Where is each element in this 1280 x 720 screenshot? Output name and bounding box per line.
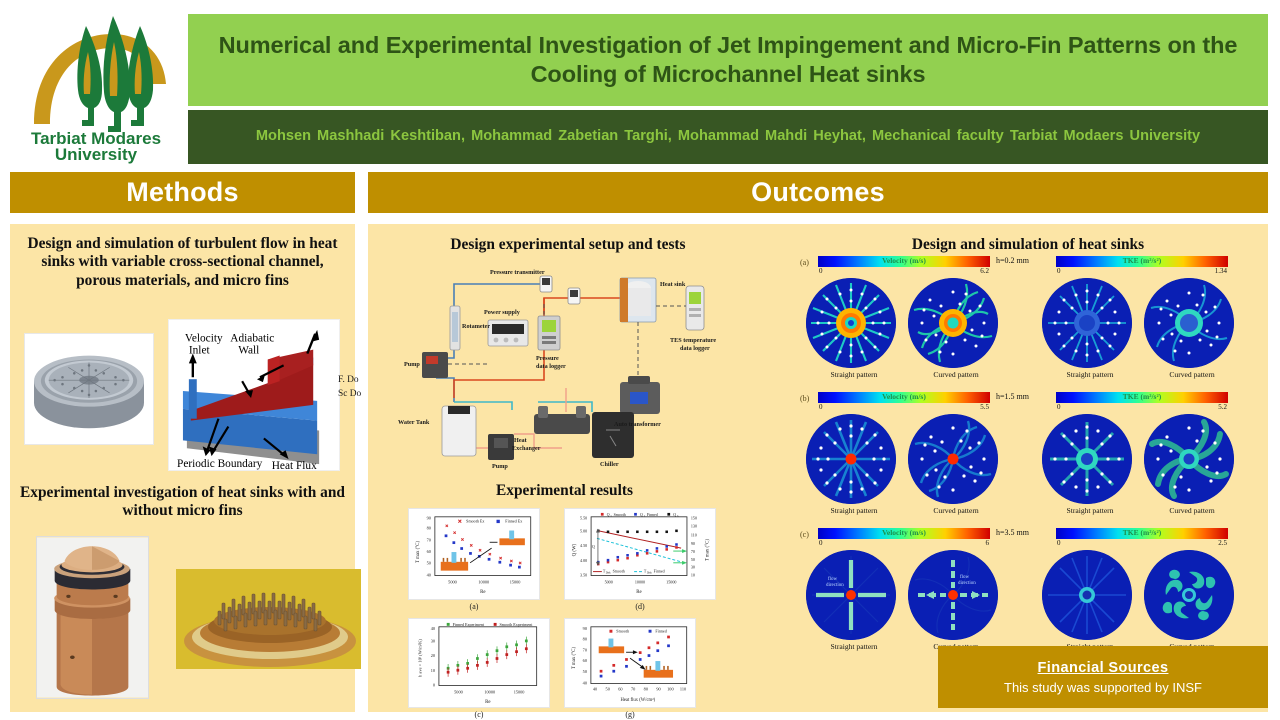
methods-heading-experimental: Experimental investigation of heat sinks…	[18, 484, 347, 521]
chart-d-caption: (d)	[564, 602, 716, 611]
colorbar-velocity-a-max: 6.2	[980, 267, 989, 275]
contour-c1-svg: flow direction	[806, 550, 896, 640]
contour-disc-a3-image	[1042, 278, 1132, 368]
colorbar-tke-c-title: TKE (m²/s²)	[1056, 528, 1228, 537]
svg-text:90: 90	[691, 541, 695, 546]
contour-disc-b2-caption: Curved pattern	[908, 506, 1004, 515]
section-header-outcomes: Outcomes	[368, 172, 1268, 213]
section-header-methods: Methods	[10, 172, 355, 213]
colorbar-velocity-b: Velocity (m/s) 0 5.5	[818, 392, 990, 412]
contour-disc-b4-caption: Curved pattern	[1144, 506, 1240, 515]
colorbar-velocity-c-min: 0	[819, 539, 823, 547]
svg-text:15000: 15000	[514, 689, 525, 694]
svg-text:0: 0	[433, 682, 435, 687]
svg-text:Pump: Pump	[404, 361, 420, 368]
colorbar-velocity-a-title: Velocity (m/s)	[818, 256, 990, 265]
colorbar-tke-b-min: 0	[1057, 403, 1061, 411]
contour-disc-b1-image	[806, 414, 896, 504]
svg-text:3.50: 3.50	[580, 573, 587, 578]
svg-text:T max (°C): T max (°C)	[705, 539, 710, 562]
colorbar-velocity-c-title: Velocity (m/s)	[818, 528, 990, 537]
contour-disc-b4-image	[1144, 414, 1234, 504]
chart-g-graphic: 40 50 60 70 80 90 405060 708090 100110 H…	[565, 619, 695, 707]
colorbar-tke-c-max: 2.5	[1218, 539, 1227, 547]
university-logo: Tarbiat Modares University	[8, 8, 184, 164]
svg-text:Periodic Boundary: Periodic Boundary	[177, 458, 263, 470]
contour-a3-svg	[1042, 278, 1132, 368]
chart-g-caption: (g)	[564, 710, 696, 719]
colorbar-velocity-c-max: 6	[986, 539, 990, 547]
micro-fin-array-photo	[176, 569, 361, 669]
svg-text:4.00: 4.00	[580, 558, 587, 563]
contour-disc-c2-image: flow direction	[908, 550, 998, 640]
boundary-condition-figure: Velocity Inlet Adiabatic Wall Periodic B…	[168, 319, 340, 471]
svg-text:110: 110	[680, 686, 686, 691]
simulation-row-a-label: (a)	[800, 258, 809, 267]
poster-authors-bar: Mohsen Mashhadi Keshtiban, Mohammad Zabe…	[188, 110, 1268, 164]
svg-text:70: 70	[427, 537, 431, 542]
svg-text:Q: Q	[607, 513, 610, 517]
contour-c3-svg	[1042, 550, 1132, 640]
svg-text:direction: direction	[958, 581, 976, 586]
svg-text:Q: Q	[640, 513, 643, 517]
colorbar-tke-a: TKE (m²/s²) 0 1.34	[1056, 256, 1228, 276]
svg-text:Re: Re	[636, 590, 641, 595]
methods-figure-row: Velocity Inlet Adiabatic Wall Periodic B…	[16, 317, 349, 477]
chart-a-graphic: 40 50 60 70 80 90 5000 10000 15000 Re T …	[409, 509, 539, 599]
svg-text:Finned Experiment: Finned Experiment	[453, 622, 485, 627]
svg-text:15000: 15000	[510, 579, 521, 584]
svg-text:5000: 5000	[454, 689, 463, 694]
svg-text:h ave × 10³ (W/m²K): h ave × 10³ (W/m²K)	[417, 639, 422, 677]
methods-heading-simulation: Design and simulation of turbulent flow …	[18, 235, 347, 290]
svg-text:20: 20	[431, 653, 435, 658]
svg-text:Finned Ex: Finned Ex	[505, 519, 522, 524]
svg-text:40: 40	[431, 626, 435, 631]
svg-text:Re: Re	[480, 590, 485, 595]
svg-text:Disk: Disk	[647, 572, 653, 575]
svg-text:Finned: Finned	[654, 570, 665, 574]
svg-text:150: 150	[691, 516, 697, 521]
contour-disc-b3-caption: Straight pattern	[1042, 506, 1138, 515]
svg-text:5.00: 5.00	[580, 528, 587, 533]
contour-b1-svg	[806, 414, 896, 504]
svg-text:Smooth: Smooth	[616, 629, 629, 634]
svg-text:T max (°C): T max (°C)	[416, 541, 421, 564]
svg-text:Chiller: Chiller	[600, 461, 619, 468]
contour-disc-c1-caption: Straight pattern	[806, 642, 902, 651]
svg-text:60: 60	[618, 686, 622, 691]
contour-disc-c4: Curved pattern	[1144, 550, 1240, 651]
colorbar-tke-b-max: 5.2	[1218, 403, 1227, 411]
svg-text:5000: 5000	[448, 579, 457, 584]
svg-text:130: 130	[691, 524, 697, 529]
svg-text:10000: 10000	[478, 579, 489, 584]
copper-block-graphic	[37, 537, 148, 698]
svg-text:Smooth: Smooth	[614, 513, 626, 517]
contour-disc-b1: Straight pattern	[806, 414, 902, 515]
svg-text:Inlet: Inlet	[189, 345, 211, 357]
contour-disc-c1-image: flow direction	[806, 550, 896, 640]
contour-c2-svg: flow direction	[908, 550, 998, 640]
section-header-outcomes-label: Outcomes	[751, 177, 885, 208]
contour-disc-a2-image	[908, 278, 998, 368]
svg-text:100: 100	[667, 686, 673, 691]
contour-disc-a3: Straight pattern	[1042, 278, 1138, 379]
svg-text:Water Tank: Water Tank	[398, 419, 430, 426]
contour-disc-c1: flow direction Straight pattern	[806, 550, 902, 651]
svg-text:10000: 10000	[484, 689, 495, 694]
svg-text:Q: Q	[592, 545, 595, 549]
svg-text:Smooth Experiment: Smooth Experiment	[500, 622, 534, 627]
contour-disc-c4-image	[1144, 550, 1234, 640]
contour-disc-c3-image	[1042, 550, 1132, 640]
contour-disc-a4: Curved pattern	[1144, 278, 1240, 379]
contour-a2-svg	[908, 278, 998, 368]
contour-disc-a1: Straight pattern	[806, 278, 902, 379]
simulation-row-b-label: (b)	[800, 394, 809, 403]
svg-text:50: 50	[691, 557, 695, 562]
svg-text:40: 40	[583, 681, 587, 686]
svg-text:Q (W): Q (W)	[572, 543, 577, 556]
experimental-setup-figure: Pressure transmitter Rotameter Power sup…	[392, 262, 737, 470]
contour-a1-svg	[806, 278, 896, 368]
contour-disc-b3-image	[1042, 414, 1132, 504]
colorbar-tke-c: TKE (m²/s²) 0 2.5	[1056, 528, 1228, 548]
chart-a-caption: (a)	[408, 602, 540, 611]
svg-text:Pressure transmitter: Pressure transmitter	[490, 269, 545, 276]
boundary-condition-graphic: Velocity Inlet Adiabatic Wall Periodic B…	[169, 320, 339, 470]
contour-disc-a4-caption: Curved pattern	[1144, 370, 1240, 379]
poster-header: Tarbiat Modares University Numerical and…	[0, 0, 1280, 168]
svg-text:Re: Re	[485, 700, 490, 705]
svg-text:80: 80	[583, 637, 587, 642]
financial-sources-box: Financial Sources This study was support…	[938, 646, 1268, 708]
svg-text:5000: 5000	[605, 579, 613, 584]
contour-disc-b4: Curved pattern	[1144, 414, 1240, 515]
svg-text:data logger: data logger	[536, 363, 566, 370]
svg-text:Pressure: Pressure	[536, 355, 559, 362]
colorbar-tke-b-title: TKE (m²/s²)	[1056, 392, 1228, 401]
svg-text:TES temperature: TES temperature	[670, 337, 716, 344]
svg-text:5.50: 5.50	[580, 516, 587, 521]
simulation-row-c-label: (c)	[800, 530, 809, 539]
svg-text:50: 50	[606, 686, 610, 691]
svg-text:90: 90	[427, 516, 431, 521]
svg-text:Smooth: Smooth	[613, 570, 625, 574]
chart-a-tmax-vs-re: 40 50 60 70 80 90 5000 10000 15000 Re T …	[408, 508, 540, 600]
contour-b3-svg	[1042, 414, 1132, 504]
svg-text:15000: 15000	[666, 579, 676, 584]
financial-sources-text: This study was supported by INSF	[1004, 680, 1202, 695]
svg-text:flow: flow	[960, 575, 970, 580]
h-label-a: h=0.2 mm	[996, 256, 1029, 265]
outcomes-panel: Design experimental setup and tests	[368, 224, 1268, 712]
chart-c-caption: (c)	[408, 710, 550, 719]
contour-disc-b2: Curved pattern	[908, 414, 1004, 515]
contour-disc-a2-caption: Curved pattern	[908, 370, 1004, 379]
svg-text:60: 60	[427, 549, 431, 554]
contour-disc-c2: flow direction Curved pattern	[908, 550, 1004, 651]
setup-schematic: Pressure transmitter Rotameter Power sup…	[392, 262, 737, 470]
colorbar-tke-a-min: 0	[1057, 267, 1061, 275]
svg-text:90: 90	[583, 626, 587, 631]
colorbar-tke-a-title: TKE (m²/s²)	[1056, 256, 1228, 265]
colorbar-velocity-a-min: 0	[819, 267, 823, 275]
contour-disc-a2: Curved pattern	[908, 278, 1004, 379]
svg-text:90: 90	[656, 686, 660, 691]
contour-disc-a3-caption: Straight pattern	[1042, 370, 1138, 379]
svg-text:Exchanger: Exchanger	[512, 445, 541, 452]
svg-text:50: 50	[583, 669, 587, 674]
poster-title: Numerical and Experimental Investigation…	[202, 31, 1254, 88]
h-label-c: h=3.5 mm	[996, 528, 1029, 537]
chart-d-graphic: 3.50 4.00 4.50 5.00 5.50 1030 5070 90110…	[565, 509, 715, 599]
svg-text:Pump: Pump	[492, 463, 508, 470]
svg-text:direction: direction	[826, 583, 844, 588]
outcomes-heading-simulation: Design and simulation of heat sinks	[808, 236, 1248, 254]
colorbar-velocity-b-title: Velocity (m/s)	[818, 392, 990, 401]
svg-text:60: 60	[583, 658, 587, 663]
svg-text:Adiabatic: Adiabatic	[230, 333, 274, 345]
contour-c4-svg	[1144, 550, 1234, 640]
svg-text:Heat: Heat	[514, 437, 528, 444]
methods-side-note: F. Do Sc Do	[338, 374, 368, 401]
colorbar-tke-b: TKE (m²/s²) 0 5.2	[1056, 392, 1228, 412]
outcomes-heading-setup: Design experimental setup and tests	[388, 236, 748, 254]
svg-text:40: 40	[427, 573, 431, 578]
contour-a4-svg	[1144, 278, 1234, 368]
svg-text:Velocity: Velocity	[185, 333, 223, 345]
svg-text:Finned: Finned	[655, 629, 666, 634]
colorbar-velocity-c: Velocity (m/s) 0 6	[818, 528, 990, 548]
svg-text:10: 10	[691, 573, 695, 578]
micro-fin-graphic	[176, 569, 361, 669]
chart-c-h-vs-re: 0 10 20 30 40 5000 10000 15000 Re h ave …	[408, 618, 550, 708]
colorbar-velocity-b-max: 5.5	[980, 403, 989, 411]
logo-line2: University	[55, 145, 138, 164]
svg-text:30: 30	[431, 638, 435, 643]
svg-text:Smooth Ex: Smooth Ex	[466, 519, 484, 524]
svg-text:30: 30	[691, 565, 695, 570]
svg-text:Finned: Finned	[647, 513, 658, 517]
svg-text:Power supply: Power supply	[484, 309, 521, 316]
section-header-methods-label: Methods	[126, 177, 238, 208]
svg-text:Heat flux (W/cm²): Heat flux (W/cm²)	[620, 697, 655, 703]
contour-disc-a1-caption: Straight pattern	[806, 370, 902, 379]
chart-c-graphic: 0 10 20 30 40 5000 10000 15000 Re h ave …	[409, 619, 549, 707]
contour-disc-c3: Straight pattern	[1042, 550, 1138, 651]
contour-disc-a4-image	[1144, 278, 1234, 368]
simulation-row-c: (c) Velocity (m/s) 0 6 h=3.5 mm TKE (m²/…	[800, 528, 1252, 656]
contour-disc-a1-image	[806, 278, 896, 368]
logo-graphic: Tarbiat Modares University	[8, 8, 184, 164]
svg-text:80: 80	[427, 526, 431, 531]
svg-text:Wall: Wall	[238, 345, 259, 357]
contour-disc-b3: Straight pattern	[1042, 414, 1138, 515]
svg-text:Heat sink: Heat sink	[660, 281, 686, 288]
contour-disc-b1-caption: Straight pattern	[806, 506, 902, 515]
svg-text:70: 70	[631, 686, 635, 691]
svg-text:4.50: 4.50	[580, 543, 587, 548]
copper-heat-sink-photo	[36, 536, 149, 699]
svg-text:flow: flow	[828, 577, 838, 582]
financial-sources-title: Financial Sources	[1038, 660, 1169, 676]
svg-text:70: 70	[583, 647, 587, 652]
contour-b4-svg	[1144, 414, 1234, 504]
svg-text:10: 10	[431, 668, 435, 673]
svg-text:110: 110	[691, 532, 697, 537]
poster-authors: Mohsen Mashhadi Keshtiban, Mohammad Zabe…	[256, 127, 1200, 146]
svg-text:80: 80	[644, 686, 648, 691]
svg-text:Heat Flux: Heat Flux	[272, 460, 317, 470]
svg-text:Auto transformer: Auto transformer	[614, 421, 661, 428]
colorbar-tke-a-max: 1.34	[1215, 267, 1227, 275]
contour-b2-svg	[908, 414, 998, 504]
simulation-results-grid: (a) Velocity (m/s) 0 6.2 h=0.2 mm TKE (m…	[800, 256, 1252, 662]
colorbar-velocity-a: Velocity (m/s) 0 6.2	[818, 256, 990, 276]
svg-text:70: 70	[691, 549, 695, 554]
chart-d-q-tmax-vs-re: 3.50 4.00 4.50 5.00 5.50 1030 5070 90110…	[564, 508, 716, 600]
svg-text:50: 50	[427, 561, 431, 566]
svg-text:T max (°C): T max (°C)	[572, 647, 577, 670]
svg-text:10000: 10000	[635, 579, 645, 584]
outcomes-heading-experimental: Experimental results	[392, 482, 737, 500]
svg-text:Disk: Disk	[606, 572, 612, 575]
contour-disc-b2-image	[908, 414, 998, 504]
h-label-b: h=1.5 mm	[996, 392, 1029, 401]
poster-title-bar: Numerical and Experimental Investigation…	[188, 14, 1268, 106]
colorbar-tke-c-min: 0	[1057, 539, 1061, 547]
cad-heat-sink-figure	[24, 333, 154, 445]
colorbar-velocity-b-min: 0	[819, 403, 823, 411]
simulation-row-b: (b) Velocity (m/s) 0 5.5 h=1.5 mm TKE (m…	[800, 392, 1252, 520]
chart-g-tmax-vs-heatflux: 40 50 60 70 80 90 405060 708090 100110 H…	[564, 618, 696, 708]
methods-panel: Design and simulation of turbulent flow …	[10, 224, 355, 712]
svg-text:data logger: data logger	[680, 345, 710, 352]
svg-text:Q: Q	[673, 513, 676, 517]
svg-text:Rotameter: Rotameter	[462, 323, 490, 330]
svg-text:40: 40	[593, 686, 597, 691]
cad-heat-sink-graphic	[25, 334, 153, 444]
simulation-row-a: (a) Velocity (m/s) 0 6.2 h=0.2 mm TKE (m…	[800, 256, 1252, 384]
poster-root: Tarbiat Modares University Numerical and…	[0, 0, 1280, 720]
